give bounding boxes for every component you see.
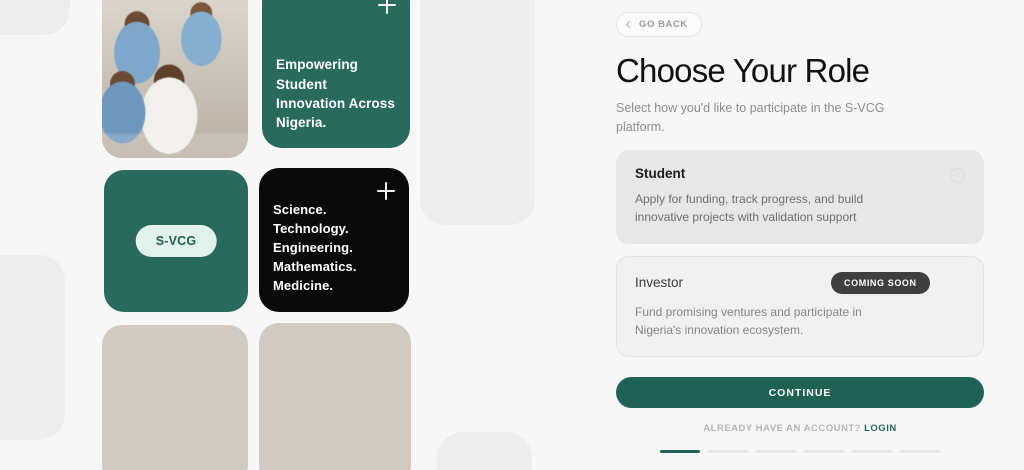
page-subtitle: Select how you'd like to participate in …	[616, 99, 896, 137]
promo-collage: Empowering Student Innovation Across Nig…	[0, 0, 600, 470]
account-prompt-row: ALREADY HAVE AN ACCOUNT? LOGIN	[616, 423, 984, 434]
role-name: Student	[635, 166, 685, 181]
radio-indicator[interactable]	[950, 168, 965, 183]
progress-segment	[900, 450, 940, 453]
role-description: Apply for funding, track progress, and b…	[635, 190, 903, 227]
svcg-logo-pill: S-VCG	[136, 225, 217, 257]
plus-icon	[377, 182, 395, 200]
go-back-label: GO BACK	[639, 19, 688, 30]
collage-headline-text: Empowering Student Innovation Across Nig…	[276, 55, 396, 132]
role-panel: GO BACK Choose Your Role Select how you'…	[600, 0, 1024, 470]
collage-photo-tile	[259, 323, 411, 470]
collage-disciplines-card: Science. Technology. Engineering. Mathem…	[259, 168, 409, 312]
role-name: Investor	[635, 275, 683, 290]
progress-segment	[708, 450, 748, 453]
progress-segment	[756, 450, 796, 453]
status-badge: COMING SOON	[831, 272, 930, 294]
continue-button[interactable]: CONTINUE	[616, 377, 984, 408]
role-options-list: Student Apply for funding, track progres…	[616, 150, 984, 357]
collage-photo-tile	[102, 0, 248, 158]
progress-indicator	[616, 450, 984, 453]
progress-segment	[852, 450, 892, 453]
login-link[interactable]: LOGIN	[864, 423, 897, 434]
page-title: Choose Your Role	[616, 54, 984, 89]
progress-segment	[660, 450, 700, 453]
go-back-button[interactable]: GO BACK	[616, 12, 702, 37]
plus-icon	[378, 0, 396, 14]
collage-disciplines-text: Science. Technology. Engineering. Mathem…	[273, 201, 395, 296]
progress-segment	[804, 450, 844, 453]
collage-photo-tile	[102, 325, 248, 470]
collage-headline-card: Empowering Student Innovation Across Nig…	[262, 0, 410, 148]
collage-logo-card: S-VCG	[104, 170, 248, 312]
role-selection-screen: Empowering Student Innovation Across Nig…	[0, 0, 1024, 470]
account-prompt-label: ALREADY HAVE AN ACCOUNT?	[703, 423, 861, 434]
role-option-investor[interactable]: Investor COMING SOON Fund promising vent…	[616, 256, 984, 357]
role-option-student[interactable]: Student Apply for funding, track progres…	[616, 150, 984, 244]
role-description: Fund promising ventures and participate …	[635, 303, 903, 340]
chevron-left-icon	[626, 20, 633, 27]
